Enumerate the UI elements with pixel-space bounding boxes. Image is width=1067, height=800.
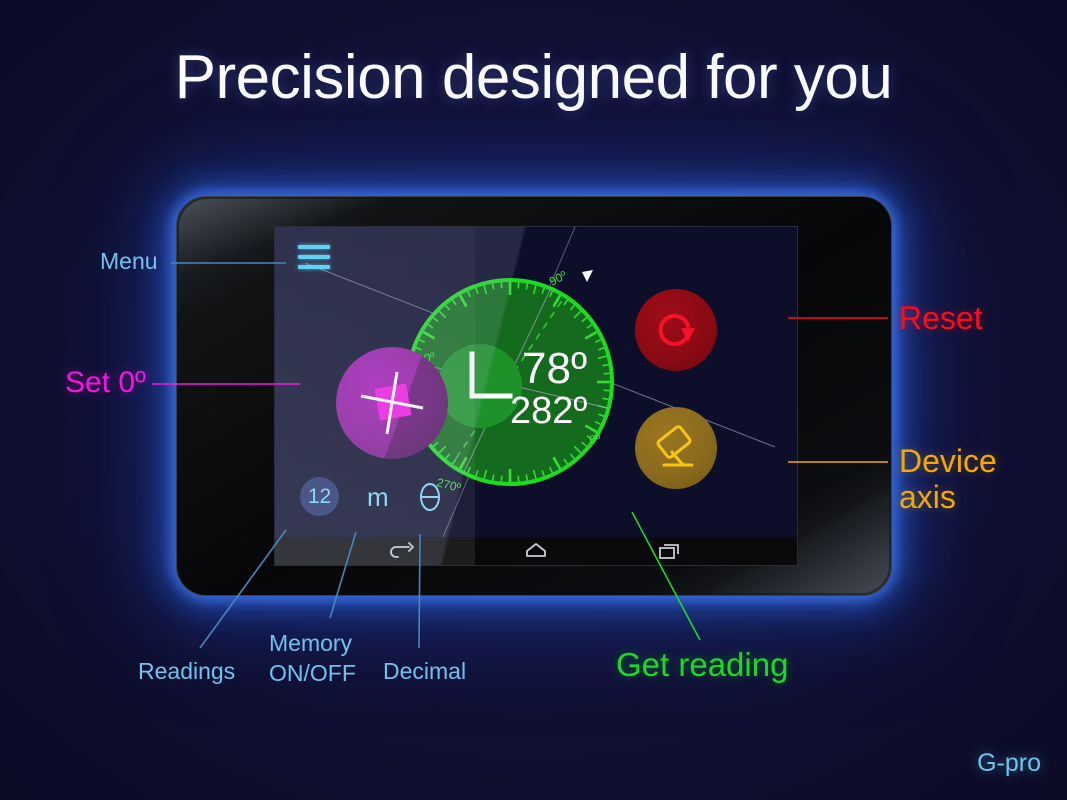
dial-label-90: 90º (547, 268, 570, 289)
brand-logo: G-pro (977, 749, 1041, 778)
annotation-memory: Memory ON/OFF (269, 628, 356, 689)
home-icon[interactable] (523, 541, 549, 561)
reset-button[interactable] (635, 289, 717, 371)
theta-icon (417, 480, 443, 514)
readings-count-badge[interactable]: 12 (300, 477, 339, 516)
annotation-menu: Menu (100, 248, 158, 275)
annotation-set-zero: Set 0º (65, 366, 146, 400)
annotation-decimal: Decimal (383, 658, 466, 685)
dial-secondary-angle: 282º (510, 392, 587, 430)
tablet-screen: 90º 180º 270º 0º 78º 282º (275, 227, 797, 565)
bottom-controls: 12 m (300, 477, 443, 516)
hamburger-icon[interactable] (298, 245, 330, 273)
annotation-device-axis: Device axis (899, 444, 997, 516)
annotation-readings: Readings (138, 658, 235, 685)
decimal-toggle[interactable] (417, 480, 443, 514)
hamburger-bar (298, 245, 330, 249)
tablet-device: 90º 180º 270º 0º 78º 282º (176, 196, 892, 596)
crosshair-square-icon (353, 364, 431, 442)
circular-arrow-icon (650, 304, 702, 356)
back-icon[interactable] (389, 541, 415, 561)
recents-icon[interactable] (657, 541, 683, 561)
dial-primary-angle: 78º (522, 347, 587, 391)
app-surface: 90º 180º 270º 0º 78º 282º (275, 227, 797, 537)
android-navbar (275, 537, 797, 565)
hamburger-bar (298, 265, 330, 269)
annotation-reset: Reset (899, 300, 983, 337)
page-title: Precision designed for you (0, 42, 1067, 113)
set-zero-button[interactable] (336, 347, 448, 459)
tilted-device-icon (648, 420, 704, 476)
annotation-get-reading: Get reading (616, 646, 788, 684)
memory-toggle[interactable]: m (367, 484, 389, 510)
hamburger-bar (298, 255, 330, 259)
device-axis-button[interactable] (635, 407, 717, 489)
dial-pointer-triangle (582, 270, 593, 282)
